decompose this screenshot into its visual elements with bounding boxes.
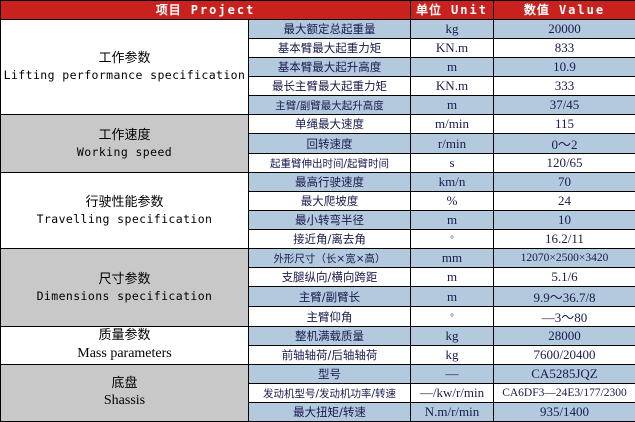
section-label: 底盘Shassis: [1, 365, 249, 422]
parameter-name: 最长主臂最大起重力矩: [249, 77, 411, 96]
parameter-name: 起重臂伸出时间/起臂时间: [249, 154, 411, 173]
parameter-name: 基本臂最大起升高度: [249, 58, 411, 77]
parameter-unit: m: [411, 211, 494, 230]
header-project-en: Project: [191, 3, 256, 17]
parameter-value: 0～2: [494, 134, 635, 154]
parameter-name: 整机满载质量: [249, 327, 411, 346]
header-value-en: Value: [559, 3, 605, 17]
parameter-name: 回转速度: [249, 134, 411, 154]
section-label-cn: 工作参数: [1, 50, 248, 68]
parameter-value: 5.1/6: [494, 268, 635, 287]
section-label: 行驶性能参数Travelling specification: [1, 173, 249, 249]
parameter-name: 型号: [249, 365, 411, 384]
section-label-cn: 质量参数: [1, 327, 248, 345]
parameter-value: 935/1400: [494, 403, 635, 422]
parameter-name: 最大爬坡度: [249, 192, 411, 211]
section-label-en: Travelling specification: [1, 212, 248, 228]
parameter-value: 20000: [494, 20, 635, 39]
parameter-unit: N.m/r/min: [411, 403, 494, 422]
header-unit-en: Unit: [451, 3, 488, 17]
parameter-name: 支腿纵向/横向跨距: [249, 268, 411, 287]
parameter-value: 833: [494, 39, 635, 58]
parameter-value: 120/65: [494, 154, 635, 173]
specification-table: 项目Project 单位Unit 数值Value 工作参数Lifting per…: [0, 0, 635, 422]
parameter-unit: —: [411, 365, 494, 384]
parameter-value: 28000: [494, 327, 635, 346]
parameter-unit: m: [411, 58, 494, 77]
parameter-unit: r/min: [411, 134, 494, 154]
parameter-name: 最小转弯半径: [249, 211, 411, 230]
parameter-name: 主臂/副臂长: [249, 287, 411, 307]
section-label-en: Dimensions specification: [1, 289, 248, 305]
table-row: 尺寸参数Dimensions specification外形尺寸（长×宽×高）m…: [1, 249, 635, 268]
parameter-unit: kg: [411, 20, 494, 39]
parameter-unit: °: [411, 307, 494, 327]
parameter-name: 单绳最大速度: [249, 115, 411, 134]
parameter-value: 9.9～36.7/8: [494, 287, 635, 307]
parameter-value: CA6DF3—24E3/177/2300: [494, 384, 635, 403]
parameter-name: 外形尺寸（长×宽×高）: [249, 249, 411, 268]
table-header: 项目Project 单位Unit 数值Value: [1, 1, 635, 20]
section-label: 尺寸参数Dimensions specification: [1, 249, 249, 327]
table-row: 工作速度Working speed单绳最大速度m/min115: [1, 115, 635, 134]
section-label: 工作速度Working speed: [1, 115, 249, 173]
table-row: 质量参数Mass parameters整机满载质量kg28000: [1, 327, 635, 346]
parameter-name: 发动机型号/发动机功率/转速: [249, 384, 411, 403]
parameter-value: 16.2/11: [494, 230, 635, 249]
parameter-unit: m: [411, 96, 494, 115]
parameter-unit: kg: [411, 346, 494, 365]
table-row: 底盘Shassis型号—CA5285JQZ: [1, 365, 635, 384]
section-label-cn: 行驶性能参数: [1, 194, 248, 212]
parameter-name: 前轴轴荷/后轴轴荷: [249, 346, 411, 365]
header-project-cn: 项目: [156, 3, 182, 17]
parameter-unit: °: [411, 230, 494, 249]
section-label-en: Mass parameters: [1, 345, 248, 364]
parameter-value: CA5285JQZ: [494, 365, 635, 384]
parameter-name: 最大扭矩/转速: [249, 403, 411, 422]
parameter-value: 333: [494, 77, 635, 96]
section-label: 工作参数Lifting performance specification: [1, 20, 249, 115]
parameter-unit: s: [411, 154, 494, 173]
section-label-cn: 工作速度: [1, 127, 248, 145]
parameter-name: 最大额定总起重量: [249, 20, 411, 39]
parameter-unit: m: [411, 268, 494, 287]
parameter-value: 115: [494, 115, 635, 134]
header-value-cn: 数值: [524, 3, 550, 17]
parameter-value: 70: [494, 173, 635, 192]
section-label-cn: 尺寸参数: [1, 271, 248, 289]
section-label-en: Working speed: [1, 145, 248, 161]
table-body: 工作参数Lifting performance specification最大额…: [1, 20, 635, 422]
parameter-name: 主臂仰角: [249, 307, 411, 327]
table-row: 行驶性能参数Travelling specification最高行驶速度km/n…: [1, 173, 635, 192]
parameter-name: 主臂/副臂最大起升高度: [249, 96, 411, 115]
parameter-value: 10.9: [494, 58, 635, 77]
parameter-unit: m: [411, 287, 494, 307]
parameter-value: 37/45: [494, 96, 635, 115]
parameter-value: —3～80: [494, 307, 635, 327]
table-row: 工作参数Lifting performance specification最大额…: [1, 20, 635, 39]
parameter-unit: KN.m: [411, 77, 494, 96]
parameter-name: 基本臂最大起重力矩: [249, 39, 411, 58]
section-label: 质量参数Mass parameters: [1, 327, 249, 365]
parameter-unit: mm: [411, 249, 494, 268]
parameter-unit: kg: [411, 327, 494, 346]
parameter-value: 12070×2500×3420: [494, 249, 635, 268]
section-label-en: Lifting performance specification: [1, 68, 248, 84]
parameter-value: 10: [494, 211, 635, 230]
parameter-unit: km/n: [411, 173, 494, 192]
parameter-value: 7600/20400: [494, 346, 635, 365]
parameter-unit: %: [411, 192, 494, 211]
section-label-cn: 底盘: [1, 375, 248, 393]
parameter-unit: KN.m: [411, 39, 494, 58]
header-row: 项目Project 单位Unit 数值Value: [1, 1, 635, 20]
parameter-unit: m/min: [411, 115, 494, 134]
section-label-en: Shassis: [1, 392, 248, 411]
header-project: 项目Project: [1, 1, 411, 20]
parameter-name: 最高行驶速度: [249, 173, 411, 192]
header-value: 数值Value: [494, 1, 635, 20]
header-unit: 单位Unit: [411, 1, 494, 20]
header-unit-cn: 单位: [416, 3, 442, 17]
parameter-unit: —/kw/r/min: [411, 384, 494, 403]
parameter-value: 24: [494, 192, 635, 211]
parameter-name: 接近角/离去角: [249, 230, 411, 249]
